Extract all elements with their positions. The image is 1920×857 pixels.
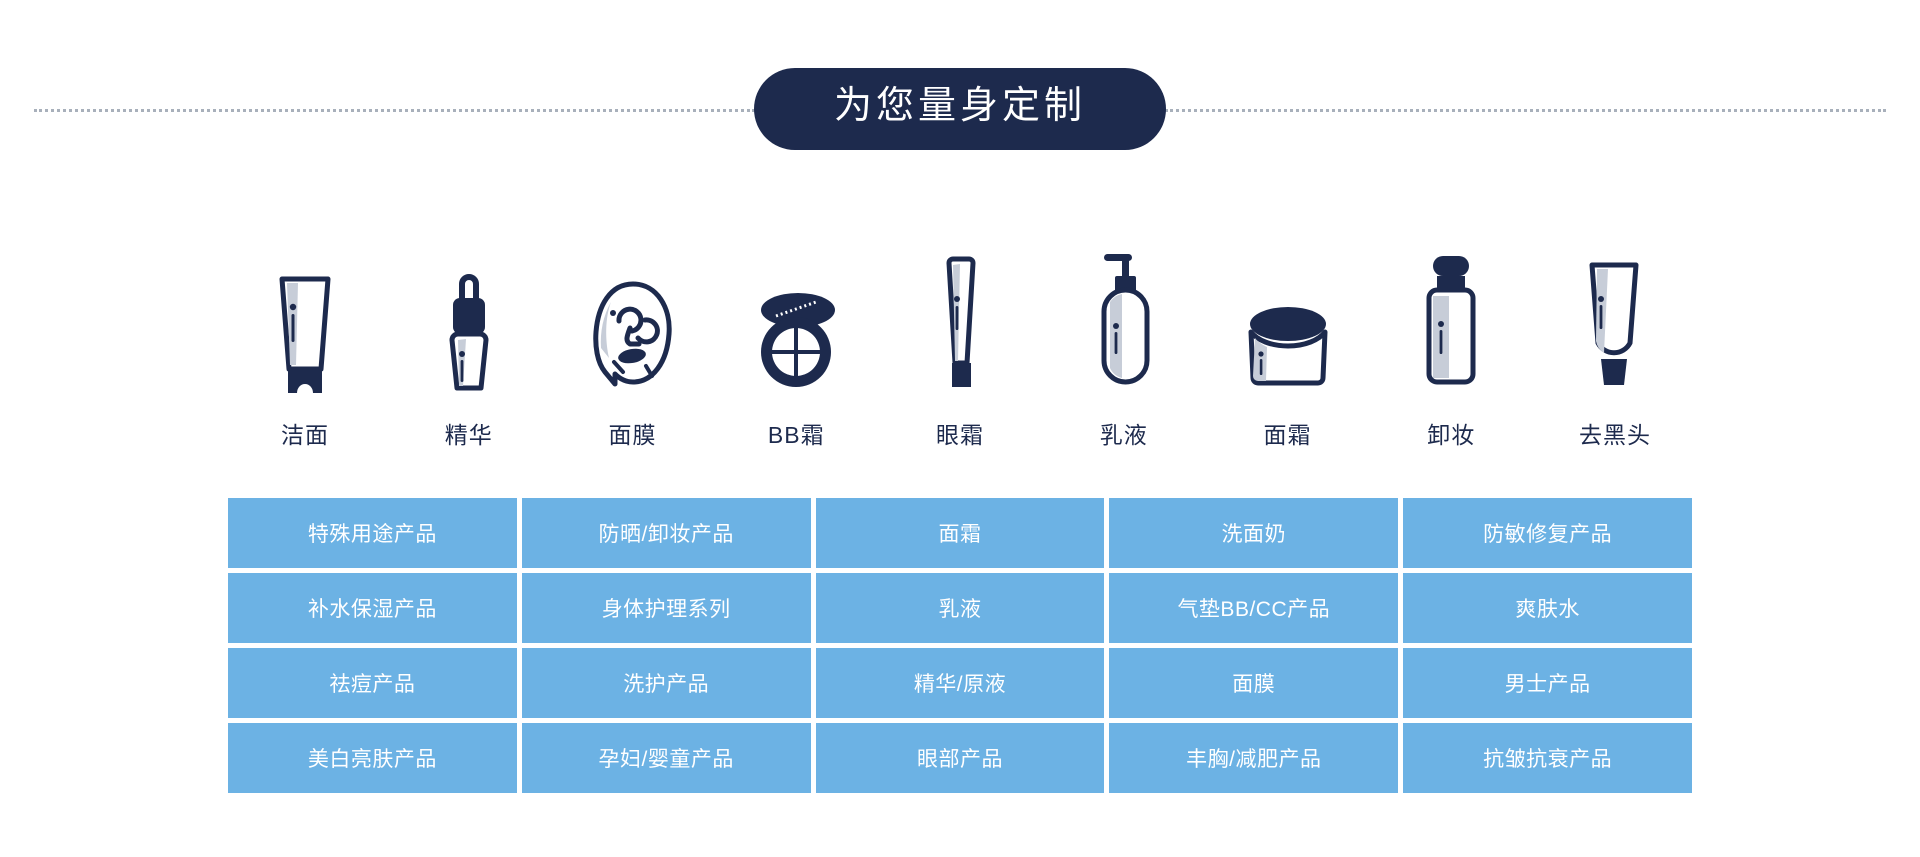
eye-cream-tube-icon [900, 246, 1020, 396]
category-cell[interactable]: 祛痘产品 [228, 648, 517, 718]
product-icon-eye-cream[interactable]: 眼霜 [885, 246, 1035, 450]
category-cell[interactable]: 男士产品 [1403, 648, 1692, 718]
category-cell[interactable]: 洗面奶 [1109, 498, 1398, 568]
product-icon-lotion[interactable]: 乳液 [1049, 246, 1199, 450]
product-icon-face-cream[interactable]: 面霜 [1213, 246, 1363, 450]
icon-label: 精华 [445, 416, 493, 450]
category-cell[interactable]: 孕妇/婴童产品 [522, 723, 811, 793]
category-cell[interactable]: 洗护产品 [522, 648, 811, 718]
product-icon-makeup-remover[interactable]: 卸妆 [1376, 246, 1526, 450]
category-cell[interactable]: 精华/原液 [816, 648, 1105, 718]
category-cell[interactable]: 面霜 [816, 498, 1105, 568]
icon-label: 面霜 [1264, 416, 1312, 450]
bb-cream-compact-icon [736, 246, 856, 396]
dotted-divider-right [1165, 109, 1886, 112]
category-cell[interactable]: 爽肤水 [1403, 573, 1692, 643]
lotion-pump-bottle-icon [1064, 246, 1184, 396]
icon-label: 洁面 [281, 416, 329, 450]
blackhead-tube-icon [1555, 246, 1675, 396]
category-cell[interactable]: 美白亮肤产品 [228, 723, 517, 793]
product-icon-blackhead[interactable]: 去黑头 [1540, 246, 1690, 450]
icon-label: BB霜 [768, 416, 825, 450]
icon-label: 乳液 [1100, 416, 1148, 450]
category-cell[interactable]: 特殊用途产品 [228, 498, 517, 568]
category-cell[interactable]: 乳液 [816, 573, 1105, 643]
category-grid: 特殊用途产品 防晒/卸妆产品 面霜 洗面奶 防敏修复产品 补水保湿产品 身体护理… [228, 498, 1692, 793]
serum-dropper-bottle-icon [409, 246, 529, 396]
category-cell[interactable]: 身体护理系列 [522, 573, 811, 643]
dotted-divider-left [34, 109, 755, 112]
category-cell[interactable]: 气垫BB/CC产品 [1109, 573, 1398, 643]
product-icon-row: 洁面 精华 [230, 230, 1690, 450]
category-cell[interactable]: 眼部产品 [816, 723, 1105, 793]
makeup-remover-bottle-icon [1391, 246, 1511, 396]
page-title: 为您量身定制 [834, 85, 1086, 127]
product-icon-serum[interactable]: 精华 [394, 246, 544, 450]
category-cell[interactable]: 面膜 [1109, 648, 1398, 718]
product-icon-cleanser[interactable]: 洁面 [230, 246, 380, 450]
header-banner: 为您量身定制 [0, 72, 1920, 146]
promo-page: 为您量身定制 洁面 [0, 0, 1920, 857]
page-title-pill: 为您量身定制 [754, 68, 1166, 150]
product-icon-bb-cream[interactable]: BB霜 [721, 246, 871, 450]
cleanser-tube-icon [245, 246, 365, 396]
category-cell[interactable]: 防晒/卸妆产品 [522, 498, 811, 568]
sheet-mask-face-icon [573, 246, 693, 396]
category-cell[interactable]: 丰胸/减肥产品 [1109, 723, 1398, 793]
category-cell[interactable]: 补水保湿产品 [228, 573, 517, 643]
category-cell[interactable]: 防敏修复产品 [1403, 498, 1692, 568]
icon-label: 去黑头 [1579, 416, 1651, 450]
icon-label: 面膜 [609, 416, 657, 450]
category-cell[interactable]: 抗皱抗衰产品 [1403, 723, 1692, 793]
icon-label: 眼霜 [936, 416, 984, 450]
face-cream-jar-icon [1228, 246, 1348, 396]
icon-label: 卸妆 [1427, 416, 1475, 450]
product-icon-mask[interactable]: 面膜 [558, 246, 708, 450]
